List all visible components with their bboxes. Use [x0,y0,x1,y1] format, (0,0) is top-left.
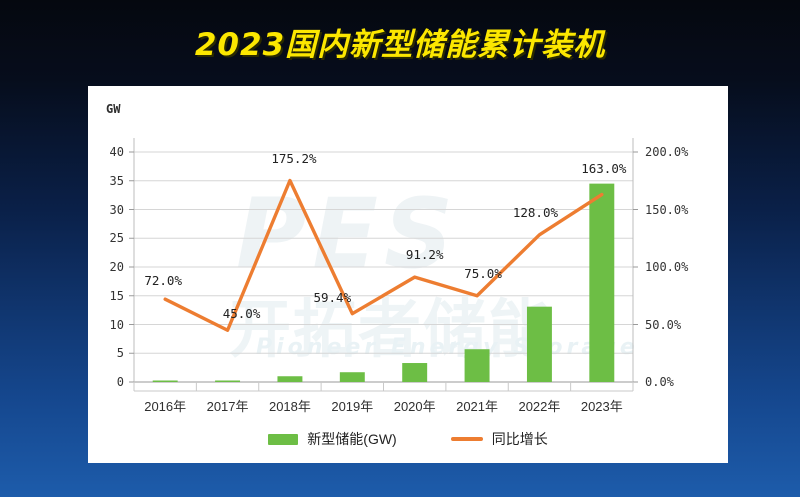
y-axis-tick-label: 25 [90,231,124,245]
x-axis-tick-label: 2021年 [446,396,508,415]
chart-title-bar: 2023国内新型储能累计装机 [0,18,800,64]
x-axis-tick-label: 2017年 [196,396,258,415]
legend-bar-swatch [268,434,298,445]
bar [153,381,178,383]
bar [589,184,614,382]
data-point-label: 59.4% [294,290,370,305]
x-axis-tick-label: 2020年 [384,396,446,415]
y2-axis-tick-label: 200.0% [645,145,688,159]
y-axis-tick-label: 20 [90,260,124,274]
bar [527,307,552,382]
data-point-label: 163.0% [566,161,642,176]
y-axis-tick-label: 0 [90,375,124,389]
x-axis-tick-label: 2023年 [571,396,633,415]
legend-item-label: 同比增长 [492,429,548,449]
x-axis-tick-label: 2022年 [508,396,570,415]
y-axis-unit-label: GW [106,102,120,116]
x-axis-tick-label: 2019年 [321,396,383,415]
plot-area: GW 05101520253035400.0%50.0%100.0%150.0%… [88,86,728,463]
legend-item-line[interactable]: 同比增长 [451,429,548,449]
y-axis-tick-label: 10 [90,318,124,332]
chart-card: PES 开拓者储能 Pioneer Energy Storage GW 0510… [88,86,728,463]
data-point-label: 175.2% [256,151,332,166]
data-point-label: 72.0% [125,273,201,288]
data-point-label: 128.0% [497,205,573,220]
legend-item-label: 新型储能(GW) [307,429,396,449]
legend-line-swatch [451,437,483,441]
y-axis-tick-label: 30 [90,203,124,217]
y2-axis-tick-label: 50.0% [645,318,681,332]
legend-item-bar[interactable]: 新型储能(GW) [268,429,396,449]
data-point-label: 75.0% [445,266,521,281]
x-axis-tick-label: 2016年 [134,396,196,415]
y-axis-tick-label: 35 [90,174,124,188]
y-axis-tick-label: 5 [90,346,124,360]
bar [340,372,365,382]
x-axis-tick-label: 2018年 [259,396,321,415]
y-axis-tick-label: 15 [90,289,124,303]
bar [465,349,490,382]
y2-axis-tick-label: 100.0% [645,260,688,274]
y2-axis-tick-label: 150.0% [645,203,688,217]
page-title: 2023国内新型储能累计装机 [195,19,605,64]
y-axis-tick-label: 40 [90,145,124,159]
bar [277,376,302,382]
data-point-label: 45.0% [204,306,280,321]
y2-axis-tick-label: 0.0% [645,375,674,389]
bar [402,363,427,382]
bar [215,381,240,383]
chart-legend: 新型储能(GW) 同比增长 [88,424,728,454]
data-point-label: 91.2% [387,247,463,262]
